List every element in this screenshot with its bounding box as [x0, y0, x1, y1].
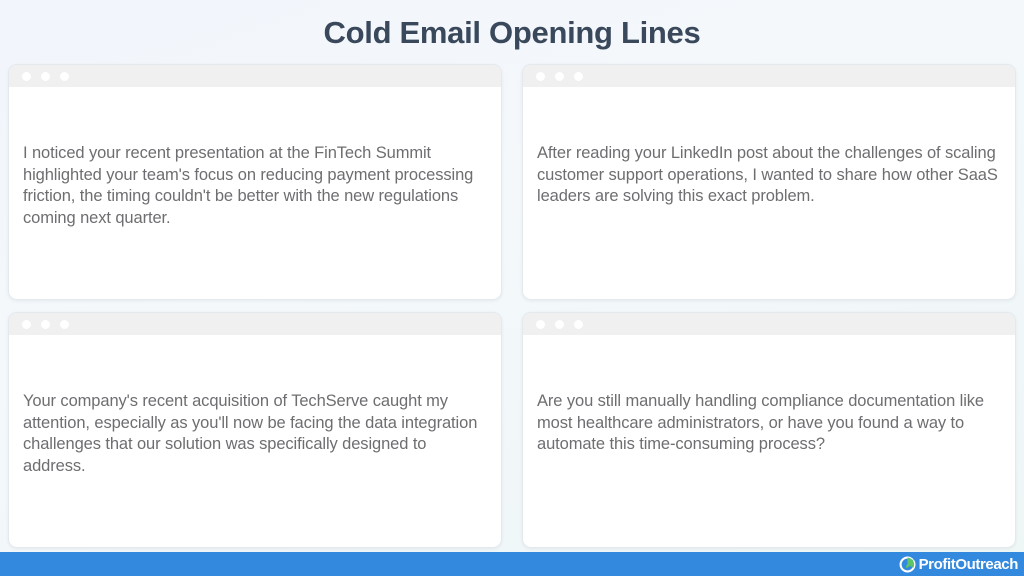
- card-compliance-documentation[interactable]: Are you still manually handling complian…: [522, 312, 1016, 548]
- dot-red-icon: [22, 320, 31, 329]
- card-grid: I noticed your recent presentation at th…: [8, 64, 1016, 548]
- card-text: After reading your LinkedIn post about t…: [537, 143, 1001, 208]
- dot-red-icon: [22, 72, 31, 81]
- card-body: After reading your LinkedIn post about t…: [523, 87, 1015, 299]
- dot-green-icon: [574, 320, 583, 329]
- dot-green-icon: [60, 320, 69, 329]
- card-body: I noticed your recent presentation at th…: [9, 87, 501, 299]
- page-title: Cold Email Opening Lines: [0, 0, 1024, 53]
- card-text: Are you still manually handling complian…: [537, 391, 1001, 456]
- dot-red-icon: [536, 320, 545, 329]
- card-text: Your company's recent acquisition of Tec…: [23, 391, 487, 477]
- card-fintech-summit[interactable]: I noticed your recent presentation at th…: [8, 64, 502, 300]
- dot-yellow-icon: [41, 320, 50, 329]
- dot-green-icon: [60, 72, 69, 81]
- card-linkedin-post[interactable]: After reading your LinkedIn post about t…: [522, 64, 1016, 300]
- profitoutreach-circle-leaf-icon: [899, 556, 916, 573]
- card-body: Your company's recent acquisition of Tec…: [9, 335, 501, 547]
- card-techserve-acquisition[interactable]: Your company's recent acquisition of Tec…: [8, 312, 502, 548]
- brand-logo[interactable]: ProfitOutreach: [899, 556, 1018, 573]
- dot-red-icon: [536, 72, 545, 81]
- dot-yellow-icon: [555, 320, 564, 329]
- footer-bar: ProfitOutreach: [0, 552, 1024, 576]
- dot-green-icon: [574, 72, 583, 81]
- brand-name: ProfitOutreach: [919, 557, 1018, 572]
- card-titlebar: [523, 313, 1015, 335]
- dot-yellow-icon: [41, 72, 50, 81]
- card-body: Are you still manually handling complian…: [523, 335, 1015, 547]
- card-titlebar: [9, 313, 501, 335]
- card-text: I noticed your recent presentation at th…: [23, 143, 487, 229]
- card-titlebar: [523, 65, 1015, 87]
- card-titlebar: [9, 65, 501, 87]
- dot-yellow-icon: [555, 72, 564, 81]
